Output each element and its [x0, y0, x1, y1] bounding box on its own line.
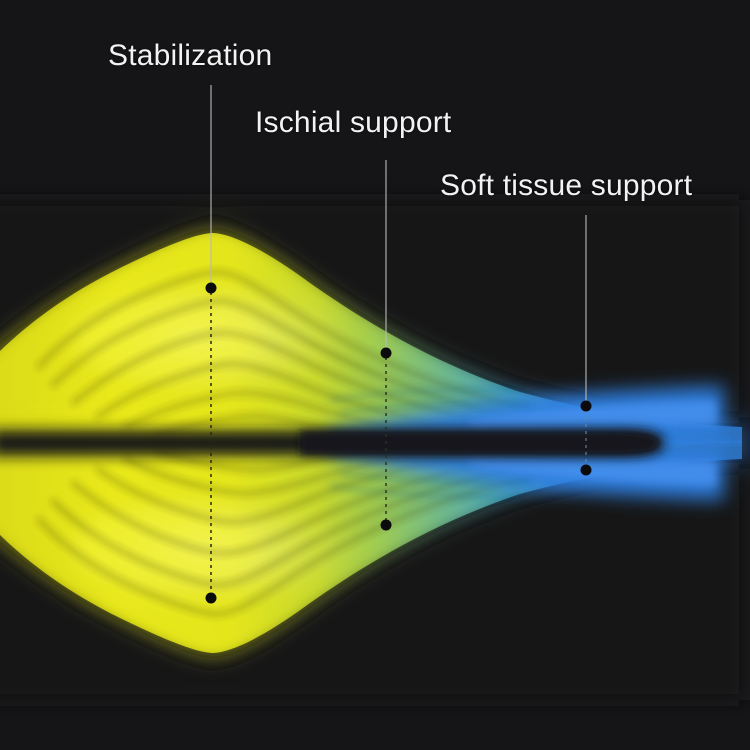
label-soft-tissue-support: Soft tissue support [440, 170, 692, 202]
callout-dot-ischial-upper[interactable] [381, 348, 392, 359]
callout-dot-ischial-lower[interactable] [381, 520, 392, 531]
callout-dot-stabilization-upper[interactable] [206, 283, 217, 294]
callout-dot-stabilization-lower[interactable] [206, 593, 217, 604]
label-ischial-support: Ischial support [255, 107, 451, 139]
callout-dot-soft-tissue-lower[interactable] [581, 465, 592, 476]
label-stabilization: Stabilization [108, 40, 272, 72]
callout-dot-soft-tissue-upper[interactable] [581, 401, 592, 412]
center-notch-cap [300, 431, 661, 455]
figure-canvas: Stabilization Ischial support Soft tissu… [0, 0, 750, 750]
